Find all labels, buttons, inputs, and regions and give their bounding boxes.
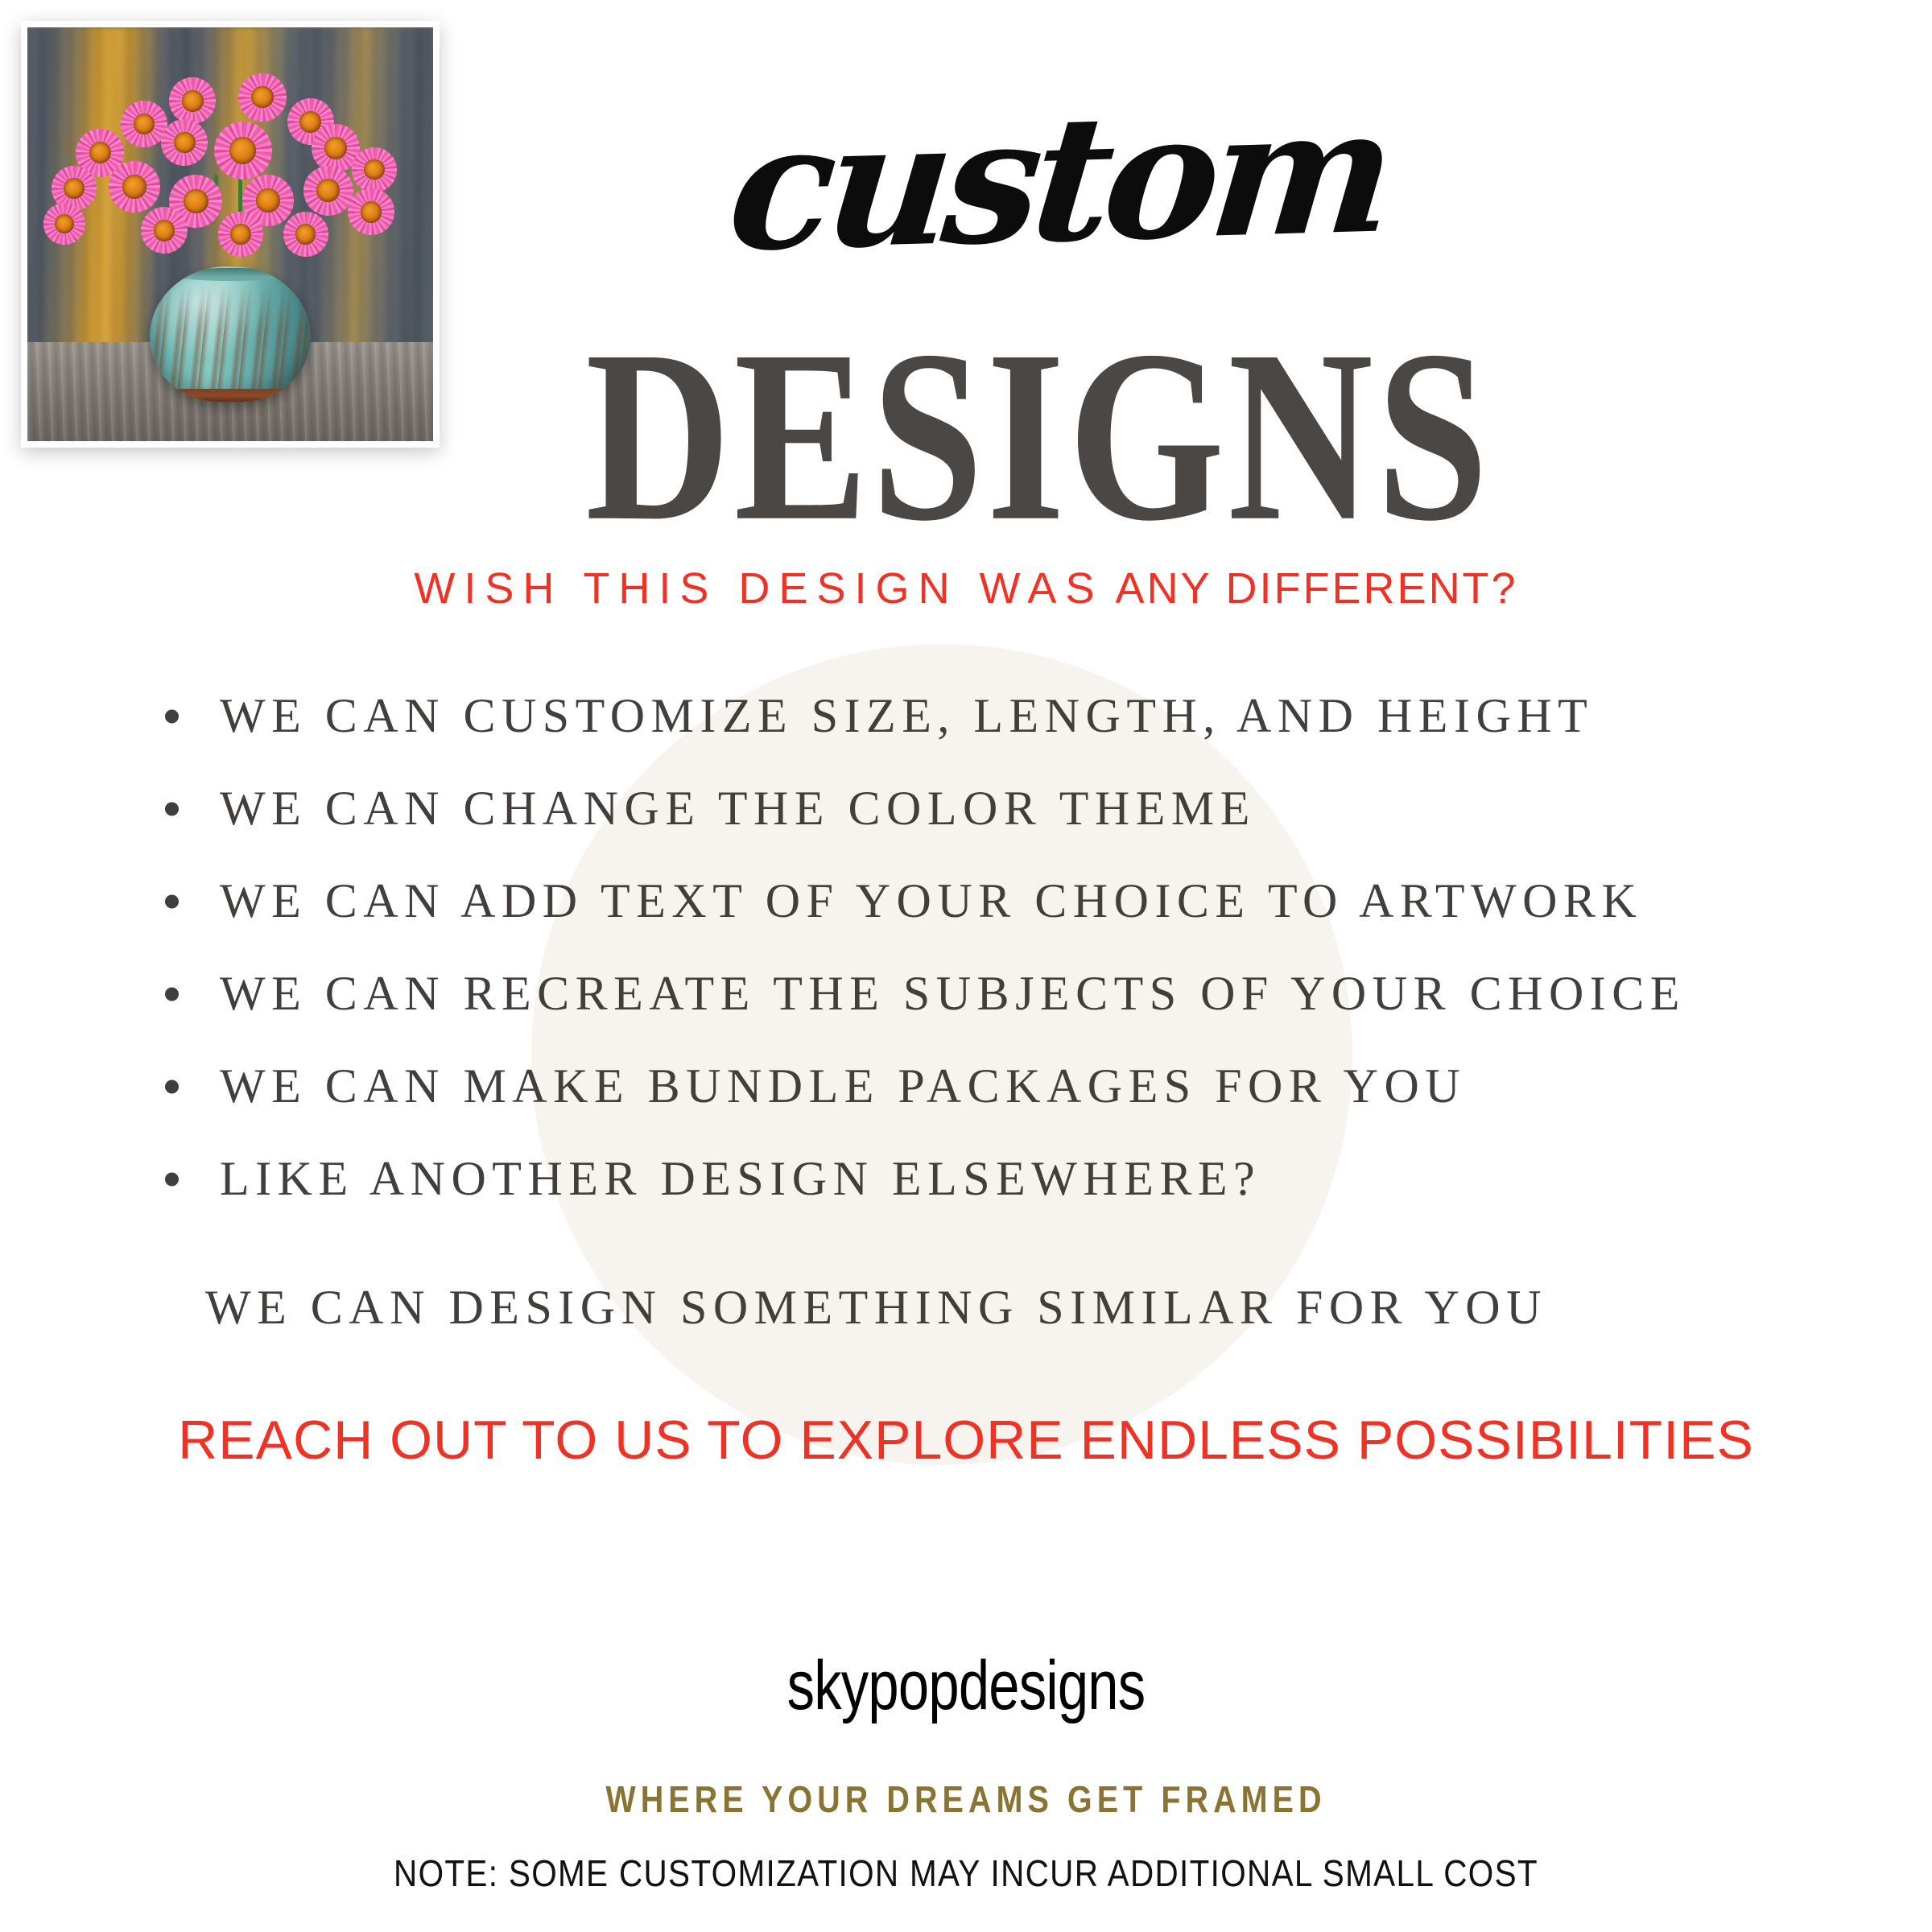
list-item: WE CAN CHANGE THE COLOR THEME (157, 781, 1815, 836)
poster-canvas: custom DESIGNS WISH THIS DESIGN WAS ANY … (0, 0, 1932, 1932)
flower-icon (218, 212, 263, 257)
flower-icon (303, 166, 353, 216)
flower-icon (161, 119, 208, 166)
flower-icon (352, 147, 397, 192)
subtitle-question: WISH THIS DESIGN WAS ANY DIFFERENT? (0, 563, 1932, 613)
flower-icon (348, 188, 394, 235)
list-item: WE CAN MAKE BUNDLE PACKAGES FOR YOU (157, 1059, 1815, 1114)
list-item-label: WE CAN CUSTOMIZE SIZE, LENGTH, AND HEIGH… (220, 689, 1593, 742)
list-item: WE CAN RECREATE THE SUBJECTS OF YOUR CHO… (157, 966, 1815, 1022)
list-item: WE CAN CUSTOMIZE SIZE, LENGTH, AND HEIGH… (157, 688, 1815, 744)
flower-icon (121, 101, 167, 147)
bullet-dot-icon (165, 1080, 179, 1093)
bullet-dot-icon (165, 987, 179, 1001)
artwork-photo (27, 27, 433, 441)
vase-rim (169, 268, 291, 281)
list-item: LIKE ANOTHER DESIGN ELSEWHERE? (157, 1151, 1815, 1207)
flower-icon (283, 212, 328, 257)
footnote-disclaimer: NOTE: SOME CUSTOMIZATION MAY INCUR ADDIT… (116, 1851, 1816, 1895)
list-item-label: WE CAN CHANGE THE COLOR THEME (220, 782, 1256, 835)
capabilities-list: WE CAN CUSTOMIZE SIZE, LENGTH, AND HEIGH… (157, 688, 1815, 1244)
flower-icon (141, 207, 188, 254)
subtitle-part-two: ANY DIFFERENT? (1116, 564, 1518, 613)
flower-icon (214, 122, 272, 180)
bullet-dot-icon (165, 894, 179, 908)
list-item-label: WE CAN ADD TEXT OF YOUR CHOICE TO ARTWOR… (220, 874, 1642, 927)
flower-icon (109, 161, 160, 213)
ceramic-vase (150, 266, 311, 402)
list-item-label: WE CAN RECREATE THE SUBJECTS OF YOUR CHO… (220, 967, 1686, 1020)
list-item-continuation: WE CAN DESIGN SOMETHING SIMILAR FOR YOU (205, 1280, 1547, 1335)
bullet-dot-icon (165, 802, 179, 815)
flower-icon (43, 203, 85, 245)
brand-logo-text[interactable]: skypopdesigns (193, 1646, 1739, 1726)
brand-tagline: WHERE YOUR DREAMS GET FRAMED (135, 1777, 1797, 1821)
list-item-label: WE CAN MAKE BUNDLE PACKAGES FOR YOU (220, 1059, 1466, 1113)
framed-artwork-thumbnail[interactable] (21, 21, 440, 448)
subtitle-part-one: WISH THIS DESIGN WAS (414, 564, 1103, 613)
bullet-dot-icon (165, 709, 179, 723)
list-item-label: LIKE ANOTHER DESIGN ELSEWHERE? (220, 1152, 1261, 1205)
bullet-dot-icon (165, 1172, 179, 1186)
flower-icon (238, 73, 287, 122)
list-item: WE CAN ADD TEXT OF YOUR CHOICE TO ARTWOR… (157, 873, 1815, 929)
call-to-action-text[interactable]: REACH OUT TO US TO EXPLORE ENDLESS POSSI… (0, 1409, 1932, 1472)
flower-icon (169, 77, 216, 124)
